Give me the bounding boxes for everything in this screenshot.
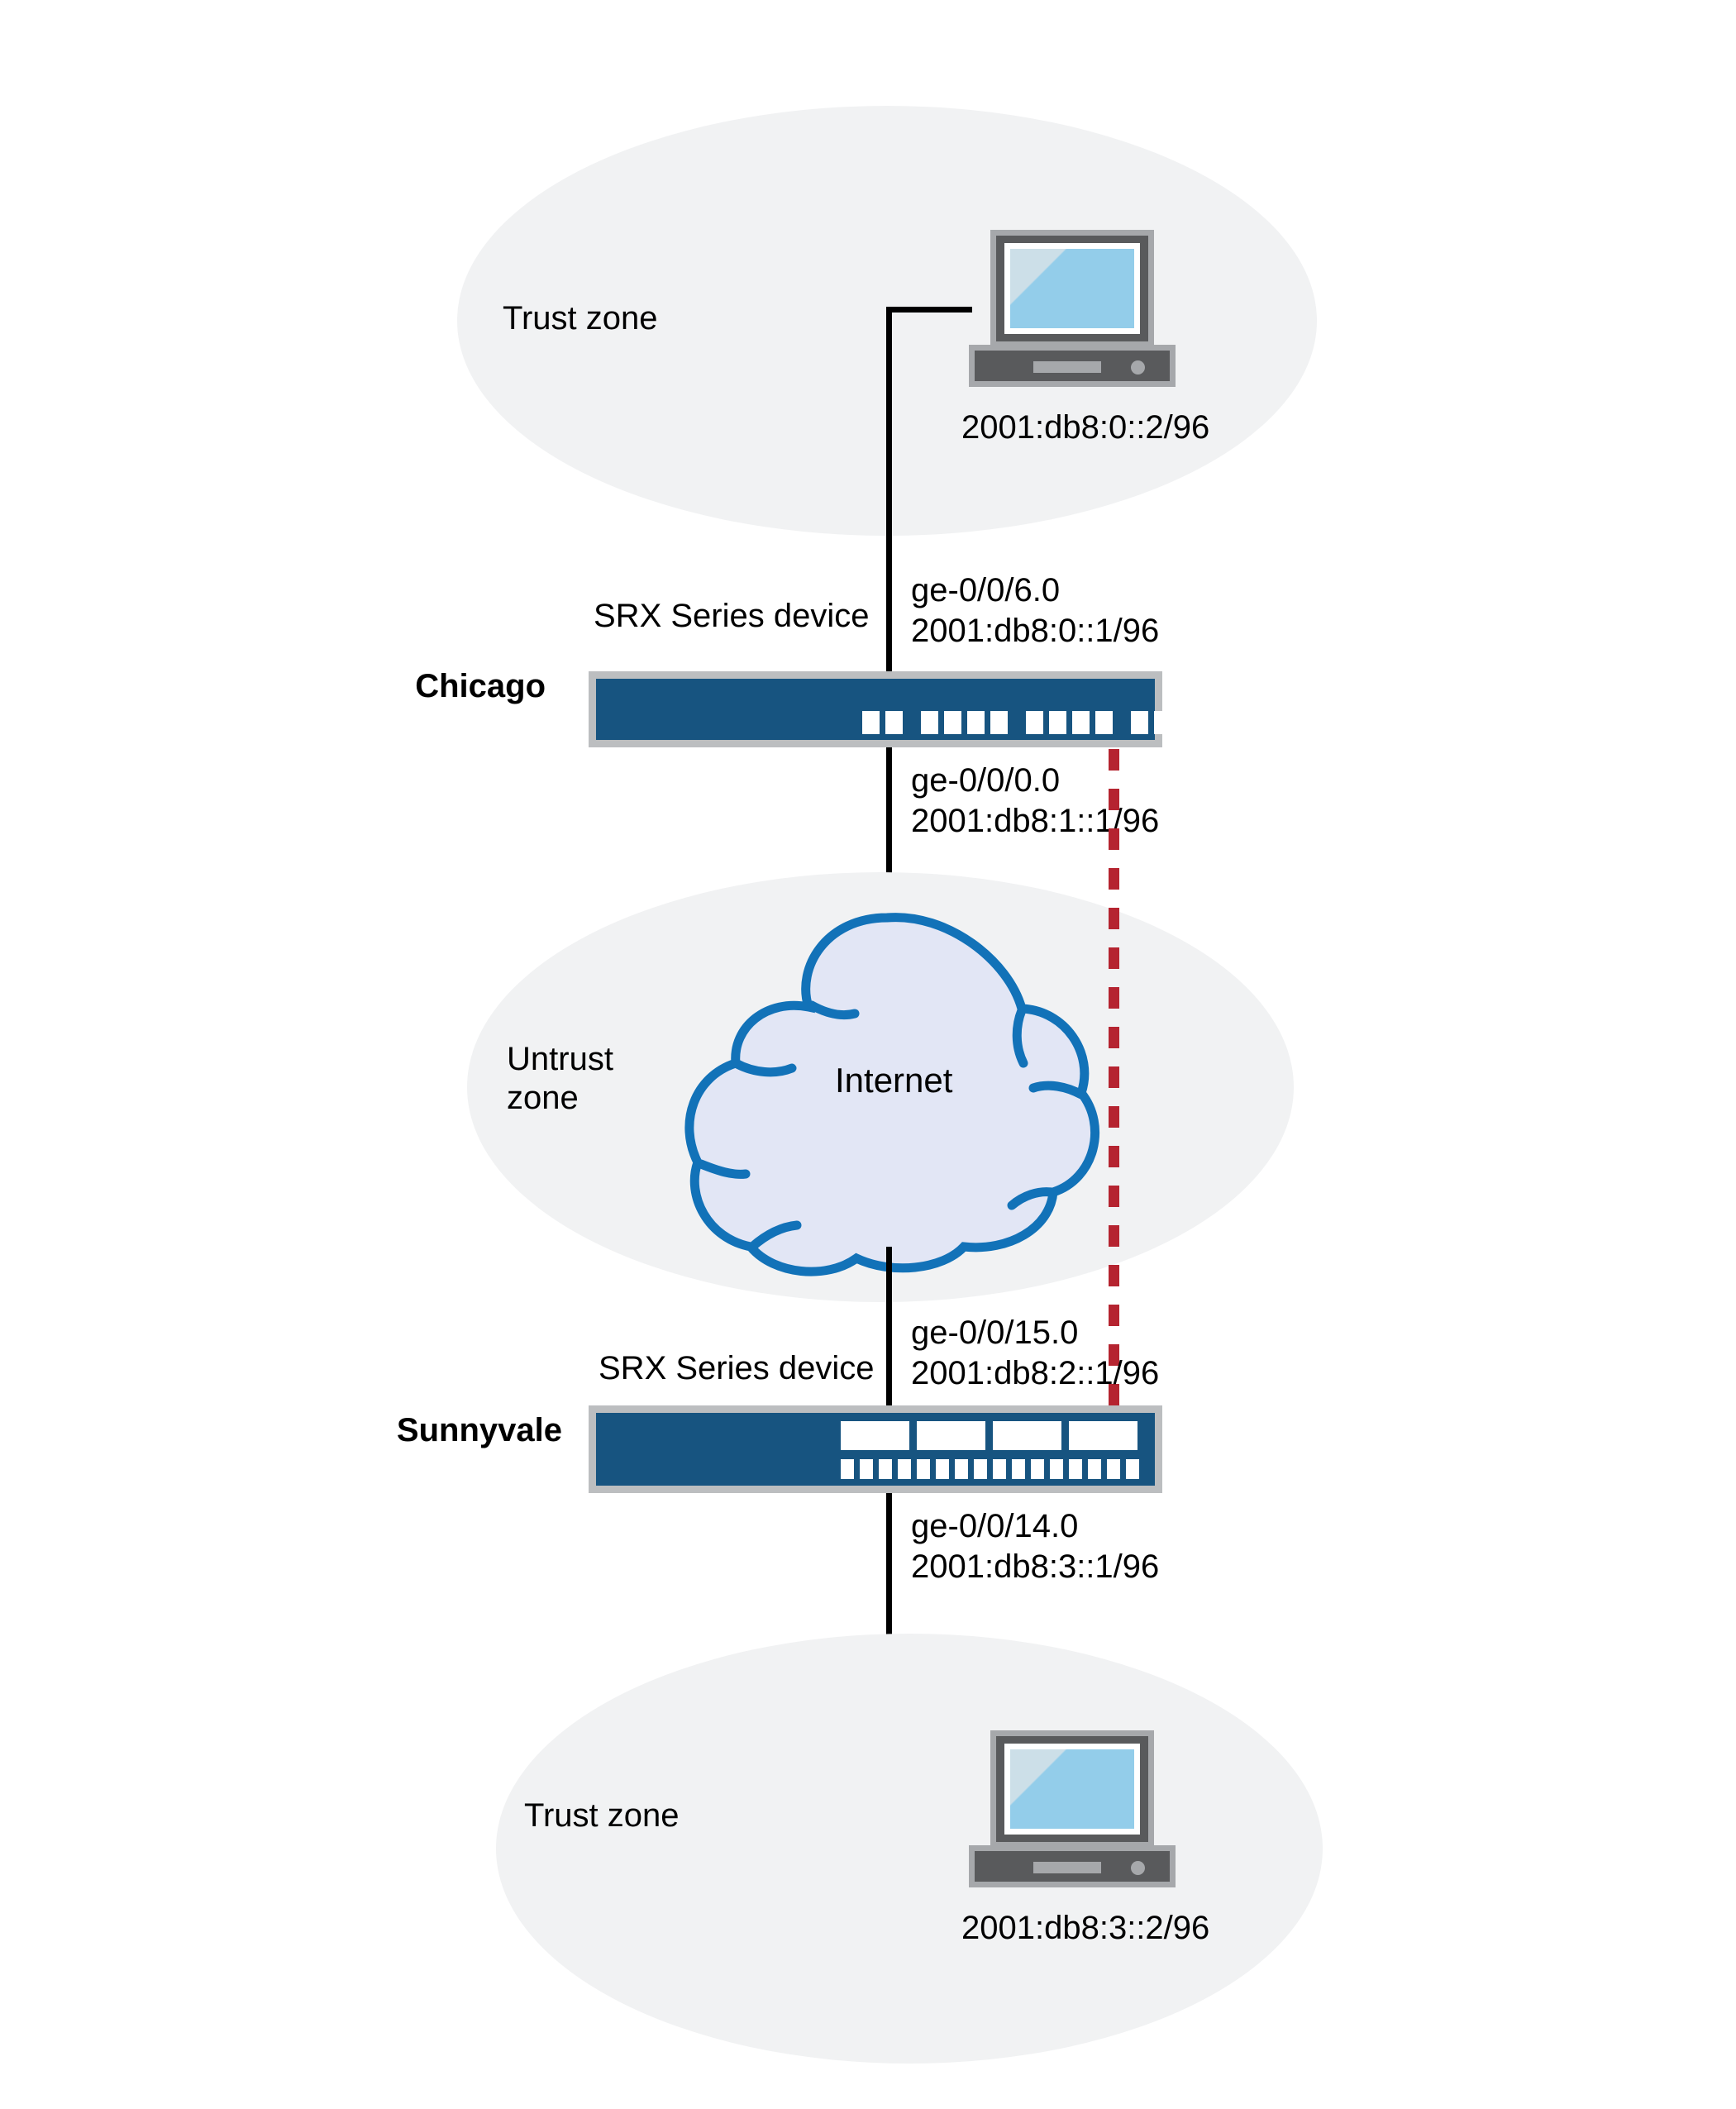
sunnyvale-uplink-wire [886,1247,892,1409]
port[interactable] [967,711,985,734]
trust-zone-top-label: Trust zone [503,299,784,338]
chicago-srx-body [596,679,1155,740]
chicago-host-address: 2001:db8:0::2/96 [961,409,1209,446]
port[interactable] [841,1459,854,1479]
large-port[interactable] [993,1421,1061,1450]
sunnyvale-srx-body [596,1413,1155,1486]
port[interactable] [1154,711,1171,734]
port[interactable] [993,1459,1006,1479]
port[interactable] [1095,711,1113,734]
internet-cloud-label: Internet [835,1061,952,1100]
port[interactable] [1088,1459,1101,1479]
monitor-screen [1010,1749,1134,1829]
sunnyvale-srx-device[interactable] [589,1405,1162,1493]
port[interactable] [990,711,1008,734]
sunnyvale-device-kind: SRX Series device [599,1350,874,1387]
port[interactable] [936,1459,949,1479]
port[interactable] [879,1459,892,1479]
chicago-port-group-4 [1131,711,1171,734]
port[interactable] [1131,711,1148,734]
chicago-port-group-1 [862,711,903,734]
network-topology-diagram: Trust zone 2001:db8:0::2/96 Chicago SRX … [0,0,1736,2109]
chicago-port-group-3 [1026,711,1113,734]
drive-slot [1033,361,1101,373]
power-led-icon [1131,1861,1145,1875]
port[interactable] [974,1459,987,1479]
sunnyvale-host-address: 2001:db8:3::2/96 [961,1910,1209,1947]
chicago-device-kind: SRX Series device [594,598,869,635]
port[interactable] [944,711,961,734]
chicago-host-computer [969,230,1176,387]
port[interactable] [862,711,880,734]
power-led-icon [1131,360,1145,375]
sunnyvale-large-port-row [841,1421,1137,1450]
chicago-host-wire-horizontal [886,307,972,313]
sunnyvale-downlink-label: ge-0/0/14.0 2001:db8:3::1/96 [911,1506,1159,1587]
sunnyvale-host-computer [969,1730,1176,1887]
port[interactable] [898,1459,911,1479]
port[interactable] [1107,1459,1120,1479]
chicago-host-wire-vertical [886,307,892,679]
large-port[interactable] [1069,1421,1137,1450]
trust-zone-bottom-label: Trust zone [524,1796,805,1835]
sunnyvale-small-port-row [841,1459,1139,1479]
port[interactable] [921,711,938,734]
chicago-uplink-label: ge-0/0/6.0 2001:db8:0::1/96 [911,570,1159,651]
port[interactable] [1069,1459,1082,1479]
sunnyvale-device-name: Sunnyvale [231,1412,562,1449]
port[interactable] [1126,1459,1139,1479]
chicago-port-group-2 [921,711,1008,734]
chicago-port-row [862,711,1171,734]
port[interactable] [955,1459,968,1479]
trust-zone-bottom-ellipse [496,1634,1323,2064]
chicago-device-name: Chicago [248,668,546,705]
monitor-screen [1010,249,1134,328]
port[interactable] [1026,711,1043,734]
port[interactable] [1012,1459,1025,1479]
chicago-downlink-label: ge-0/0/0.0 2001:db8:1::1/96 [911,761,1159,842]
port[interactable] [860,1459,873,1479]
chicago-srx-device[interactable] [589,671,1162,747]
drive-slot [1033,1862,1101,1873]
port[interactable] [1072,711,1090,734]
port[interactable] [1031,1459,1044,1479]
port[interactable] [1050,1459,1063,1479]
port[interactable] [1049,711,1066,734]
port[interactable] [885,711,903,734]
vpn-tunnel-dashed-line [1109,749,1119,1409]
port[interactable] [917,1459,930,1479]
large-port[interactable] [917,1421,985,1450]
large-port[interactable] [841,1421,909,1450]
sunnyvale-uplink-label: ge-0/0/15.0 2001:db8:2::1/96 [911,1313,1159,1394]
